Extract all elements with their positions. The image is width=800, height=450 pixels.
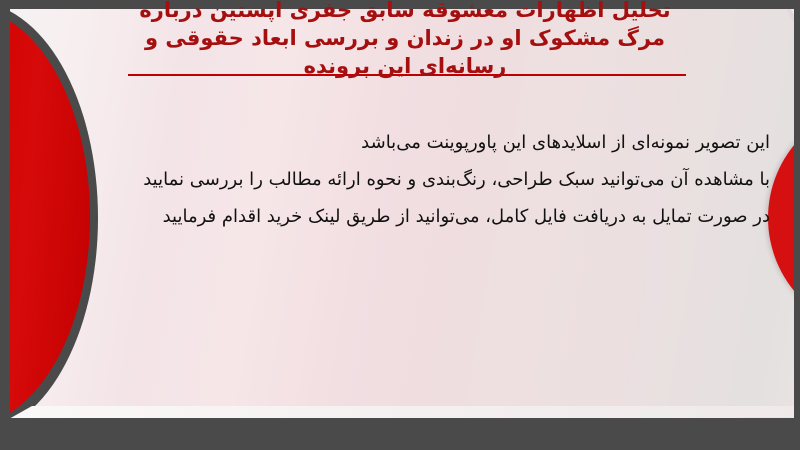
slide-title: تحلیل اظهارات معشوقه سابق جفری اپستین در… (120, 0, 690, 80)
bottom-frame-band (0, 418, 800, 450)
left-frame-edge (0, 0, 10, 450)
title-line-1: تحلیل اظهارات معشوقه سابق جفری اپستین در… (120, 0, 690, 24)
title-line-3: رسانه‌ای این پرونده (120, 52, 690, 80)
slide-body-text: این تصویر نمونه‌ای از اسلایدهای این پاور… (150, 124, 770, 235)
body-line-1: این تصویر نمونه‌ای از اسلایدهای این پاور… (150, 124, 770, 161)
body-line-3: در صورت تمایل به دریافت فایل کامل، می‌تو… (150, 198, 770, 235)
body-line-2: با مشاهده آن می‌توانید سبک طراحی، رنگ‌بن… (150, 161, 770, 198)
presentation-slide: تحلیل اظهارات معشوقه سابق جفری اپستین در… (0, 0, 800, 450)
title-line-2: مرگ مشکوک او در زندان و بررسی ابعاد حقوق… (120, 24, 690, 52)
right-frame-edge (794, 0, 800, 450)
